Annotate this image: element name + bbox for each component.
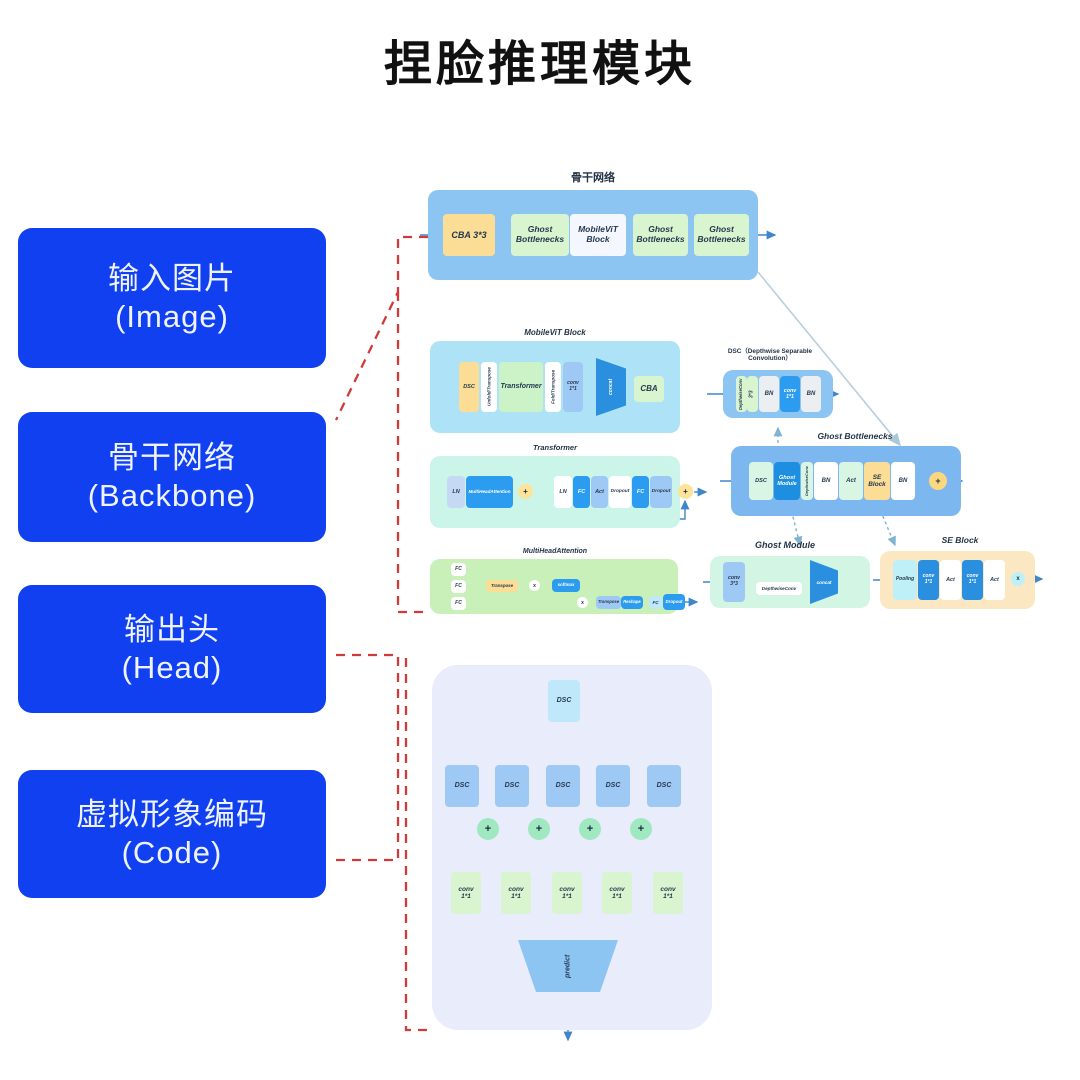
tf-add-2[interactable]: + (678, 484, 693, 499)
dsc-title: DSC（Depthwise Separable Convolution） (700, 348, 840, 363)
mha-mul-2[interactable]: x (577, 597, 588, 608)
head-conv-3[interactable]: conv 1*1 (552, 872, 582, 914)
dsc-bn-2[interactable]: BN (801, 376, 821, 412)
cba-3x3[interactable]: CBA 3*3 (443, 214, 495, 256)
tf-ln-2[interactable]: LN (554, 476, 572, 508)
mha-transpose[interactable]: Transpose (486, 580, 518, 592)
tf-mha[interactable]: MultiHeadAttention (466, 476, 513, 508)
stage-code[interactable]: 虚拟形象编码 (Code) (18, 770, 326, 898)
gb-se-block[interactable]: SE Block (864, 462, 890, 500)
tf-fc-2[interactable]: FC (632, 476, 649, 508)
ghost-bottlenecks-2[interactable]: Ghost Bottlenecks (633, 214, 688, 256)
transformer-title: Transformer (430, 444, 680, 453)
tf-dropout-1[interactable]: Dropout (609, 476, 631, 508)
head-dsc-2[interactable]: DSC (495, 765, 529, 807)
head-add-3[interactable]: + (579, 818, 601, 840)
gb-add[interactable]: + (929, 472, 947, 490)
dsc-depthwiseconv[interactable]: DepthwiseConv (736, 376, 747, 412)
se-mul[interactable]: x (1011, 572, 1025, 586)
mha-reshape[interactable]: Reshape (621, 596, 643, 609)
se-conv-1[interactable]: conv 1*1 (918, 560, 939, 600)
mha-fc-v[interactable]: FC (451, 597, 466, 610)
se-act-2[interactable]: Act (984, 560, 1005, 600)
stage-label-cn: 输出头 (124, 611, 220, 649)
stage-label-cn: 骨干网络 (108, 439, 236, 477)
se-block-title: SE Block (880, 536, 1040, 546)
mha-fc-q[interactable]: FC (451, 563, 466, 576)
head-conv-1[interactable]: conv 1*1 (451, 872, 481, 914)
stage-label-en: (Code) (122, 834, 223, 872)
head-root-dsc[interactable]: DSC (548, 680, 580, 722)
head-dsc-5[interactable]: DSC (647, 765, 681, 807)
mvb-transformer[interactable]: Transformer (499, 362, 543, 412)
head-dsc-4[interactable]: DSC (596, 765, 630, 807)
mvb-fold[interactable]: Fold/Transpose (545, 362, 561, 412)
head-add-4[interactable]: + (630, 818, 652, 840)
stage-label-en: (Head) (122, 649, 223, 687)
stage-label-en: (Image) (115, 298, 229, 336)
mha-title: MultiHeadAttention (430, 548, 680, 556)
mvb-cba[interactable]: CBA (634, 376, 664, 402)
mvb-unfold[interactable]: Unfold/Transpose (481, 362, 497, 412)
head-conv-5[interactable]: conv 1*1 (653, 872, 683, 914)
red-dashed-connector (336, 237, 432, 1030)
stage-head[interactable]: 输出头 (Head) (18, 585, 326, 713)
mobilevit-block[interactable]: MobileViT Block (570, 214, 626, 256)
mvb-conv1x1[interactable]: conv 1*1 (563, 362, 583, 412)
head-conv-2[interactable]: conv 1*1 (501, 872, 531, 914)
gb-dsc[interactable]: DSC (749, 462, 773, 500)
se-act-1[interactable]: Act (940, 560, 961, 600)
backbone-title: 骨干网络 (428, 172, 758, 185)
ghost-bottlenecks-1[interactable]: Ghost Bottlenecks (511, 214, 569, 256)
gb-bn-2[interactable]: BN (891, 462, 915, 500)
mha-transpose-2[interactable]: Transpose (596, 596, 621, 609)
tf-act[interactable]: Act (591, 476, 608, 508)
tf-add-1[interactable]: + (518, 484, 533, 499)
dsc-conv-1x1[interactable]: conv 1*1 (780, 376, 800, 412)
gm-depthwiseconv[interactable]: DepthwiseConv (756, 582, 802, 595)
head-add-1[interactable]: + (477, 818, 499, 840)
mha-dropout[interactable]: Dropout (663, 594, 685, 610)
ghost-module-title: Ghost Module (710, 540, 860, 550)
mha-mul-1[interactable]: x (529, 580, 540, 591)
ghost-bottlenecks-3[interactable]: Ghost Bottlenecks (694, 214, 749, 256)
stage-label-cn: 输入图片 (108, 260, 236, 298)
dsc-3x3[interactable]: 3*3 (747, 376, 758, 412)
stage-label-cn: 虚拟形象编码 (76, 796, 268, 834)
se-pooling[interactable]: Pooling (893, 560, 917, 600)
se-conv-2[interactable]: conv 1*1 (962, 560, 983, 600)
mha-softmax[interactable]: softmax (552, 579, 580, 592)
mha-fc-k[interactable]: FC (451, 580, 466, 593)
head-add-2[interactable]: + (528, 818, 550, 840)
gb-depthwiseconv[interactable]: DepthwiseConv (801, 462, 813, 500)
stage-label-en: (Backbone) (88, 477, 257, 515)
mha-fc-out[interactable]: FC (649, 596, 662, 609)
stage-input-image[interactable]: 输入图片 (Image) (18, 228, 326, 368)
gb-ghost-module[interactable]: Ghost Module (774, 462, 800, 500)
mobilevit-title: MobileViT Block (430, 328, 680, 337)
page-title: 捏脸推理模块 (0, 24, 1080, 94)
head-conv-4[interactable]: conv 1*1 (602, 872, 632, 914)
gb-act[interactable]: Act (839, 462, 863, 500)
stage-backbone[interactable]: 骨干网络 (Backbone) (18, 412, 326, 542)
tf-ln-1[interactable]: LN (447, 476, 465, 508)
head-dsc-1[interactable]: DSC (445, 765, 479, 807)
gb-bn-1[interactable]: BN (814, 462, 838, 500)
dsc-bn-1[interactable]: BN (759, 376, 779, 412)
ghost-bottlenecks-title: Ghost Bottlenecks (745, 432, 965, 442)
tf-fc-1[interactable]: FC (573, 476, 590, 508)
head-dsc-3[interactable]: DSC (546, 765, 580, 807)
tf-dropout-2[interactable]: Dropout (650, 476, 672, 508)
mvb-dsc[interactable]: DSC (459, 362, 479, 412)
gm-conv-3x3[interactable]: conv 3*3 (723, 562, 745, 602)
